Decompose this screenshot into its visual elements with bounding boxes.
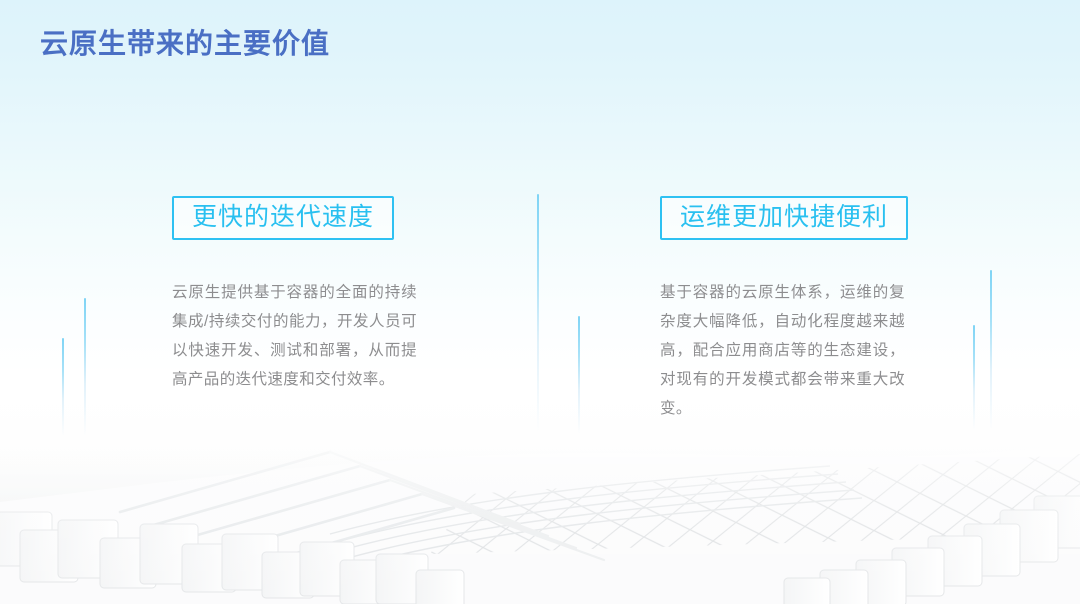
accent-line-center-short	[578, 316, 580, 434]
accent-line-right-outer	[973, 325, 975, 430]
accent-line-left-inner	[84, 298, 86, 436]
value-card-iteration-speed: 更快的迭代速度 云原生提供基于容器的全面的持续集成/持续交付的能力，开发人员可以…	[172, 196, 417, 394]
slide-canvas: 云原生带来的主要价值 更快的迭代速度 云原生提供基于容器的全面的持续集成/持续交…	[0, 0, 1080, 604]
card-heading-label: 更快的迭代速度	[192, 203, 374, 231]
card-heading-box: 运维更加快捷便利	[660, 196, 908, 240]
page-title: 云原生带来的主要价值	[40, 22, 330, 62]
background-architecture-scene	[0, 384, 1080, 604]
card-heading-label: 运维更加快捷便利	[680, 203, 888, 231]
background-haze-overlay	[0, 374, 1080, 604]
accent-line-right-inner	[990, 270, 992, 430]
value-card-operations: 运维更加快捷便利 基于容器的云原生体系，运维的复杂度大幅降低，自动化程度越来越高…	[660, 196, 908, 423]
accent-line-left-outer	[62, 338, 64, 436]
accent-line-center-tall	[537, 194, 539, 432]
card-body-text: 基于容器的云原生体系，运维的复杂度大幅降低，自动化程度越来越高，配合应用商店等的…	[660, 278, 905, 423]
card-body-text: 云原生提供基于容器的全面的持续集成/持续交付的能力，开发人员可以快速开发、测试和…	[172, 278, 417, 394]
card-heading-box: 更快的迭代速度	[172, 196, 394, 240]
